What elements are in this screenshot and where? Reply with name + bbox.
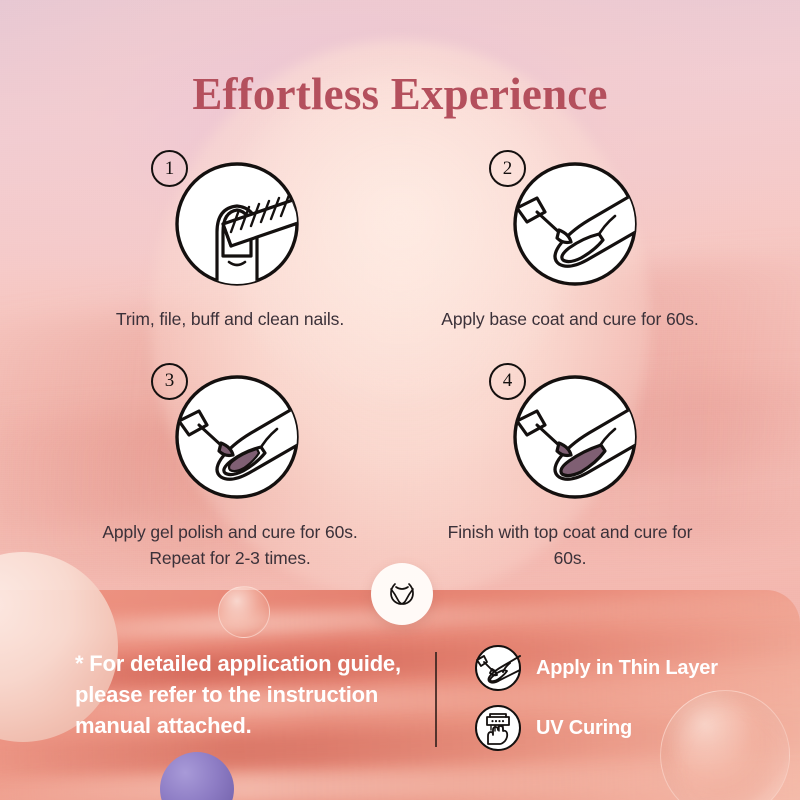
step-item: 2 [400, 148, 740, 333]
banner-divider [435, 652, 437, 747]
banner-feature-list: Apply in Thin Layer [474, 644, 718, 752]
step-caption: Apply gel polish and cure for 60s. Repea… [95, 520, 365, 572]
banner-streak [0, 761, 800, 800]
poster-canvas: Effortless Experience 1 [0, 0, 800, 800]
thin-layer-brush-icon [474, 644, 522, 692]
step-number-badge: 4 [489, 363, 526, 400]
step-artwork: 1 [151, 148, 331, 293]
steps-grid: 1 [60, 148, 740, 572]
step-number-badge: 2 [489, 150, 526, 187]
step-item: 4 [400, 361, 740, 572]
uv-lamp-icon [474, 704, 522, 752]
page-title: Effortless Experience [0, 68, 800, 120]
brand-logo-badge [371, 563, 433, 625]
step-number-badge: 1 [151, 150, 188, 187]
feature-item: Apply in Thin Layer [474, 644, 718, 692]
step-caption: Finish with top coat and cure for 60s. [435, 520, 705, 572]
top-coat-brush-icon [511, 373, 639, 501]
step-artwork: 3 [151, 361, 331, 506]
base-coat-brush-icon [511, 160, 639, 288]
step-item: 1 [60, 148, 400, 333]
gel-polish-brush-icon [173, 373, 301, 501]
step-item: 3 [60, 361, 400, 572]
banner-note-text: * For detailed application guide, please… [75, 648, 405, 742]
feature-item: UV Curing [474, 704, 718, 752]
step-caption: Apply base coat and cure for 60s. [435, 307, 705, 333]
step-number-badge: 3 [151, 363, 188, 400]
step-artwork: 4 [489, 361, 669, 506]
brand-loops-logo-icon [385, 577, 419, 611]
feature-label: UV Curing [536, 717, 632, 740]
feature-label: Apply in Thin Layer [536, 657, 718, 680]
step-caption: Trim, file, buff and clean nails. [95, 307, 365, 333]
nail-file-icon [173, 160, 301, 288]
step-artwork: 2 [489, 148, 669, 293]
